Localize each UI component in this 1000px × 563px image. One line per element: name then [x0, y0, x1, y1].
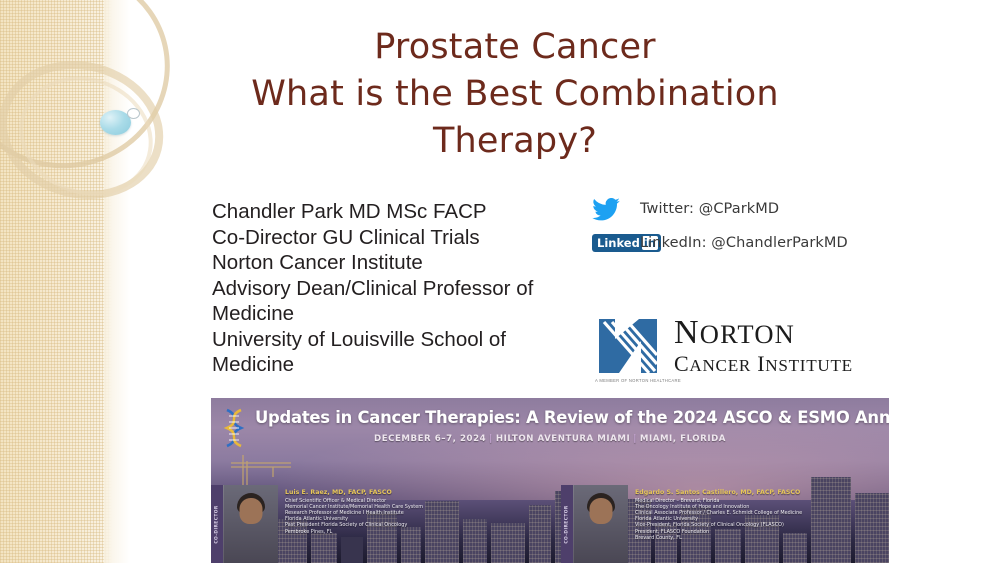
- banner-venue: HILTON AVENTURA MIAMI: [496, 434, 630, 444]
- speaker-headshot: [223, 485, 278, 563]
- presenter-line: Chandler Park MD MSc FACP: [212, 199, 584, 225]
- presenter-line: Norton Cancer Institute: [212, 250, 584, 276]
- speaker-role-tag-label: CO-DIRECTOR: [215, 505, 220, 543]
- speaker-role-tag: CO-DIRECTOR: [211, 485, 223, 563]
- speaker-card: CO-DIRECTOR Edgardo S. Santos Castillero…: [561, 485, 889, 563]
- conference-banner: Updates in Cancer Therapies: A Review of…: [211, 398, 889, 563]
- speaker-card: CO-DIRECTOR Luis E. Raez, MD, FACP, FASC…: [211, 485, 541, 563]
- speaker-details: Luis E. Raez, MD, FACP, FASCO Chief Scie…: [278, 485, 427, 563]
- norton-wordmark-line1: NORTON: [674, 316, 853, 350]
- linkedin-handle-label: LinkedIn: @ChandlerParkMD: [640, 235, 848, 251]
- presenter-line: Medicine: [212, 301, 584, 327]
- presenter-line: Medicine: [212, 352, 584, 378]
- speaker-role-tag: CO-DIRECTOR: [561, 485, 573, 563]
- banner-title: Updates in Cancer Therapies: A Review of…: [255, 408, 883, 427]
- norton-wordmark-line2: CANCER INSTITUTE: [674, 353, 853, 375]
- twitter-row[interactable]: Twitter: @CParkMD: [592, 196, 892, 222]
- linkedin-badge-icon: Linked in: [592, 234, 640, 252]
- speaker-affiliation-line: Past President Florida Society of Clinic…: [285, 522, 423, 528]
- title-line-1: Prostate Cancer: [205, 24, 825, 71]
- speaker-name: Edgardo S. Santos Castillero, MD, FACP, …: [635, 489, 802, 496]
- speaker-headshot: [573, 485, 628, 563]
- norton-cancer-institute-logo: A MEMBER OF NORTON HEALTHCARE NORTON CAN…: [595, 316, 853, 375]
- speaker-role-tag-label: CO-DIRECTOR: [565, 505, 570, 543]
- speaker-affiliation-line: Brevard County, FL: [635, 535, 802, 541]
- social-links: Twitter: @CParkMD Linked in LinkedIn: @C…: [592, 196, 892, 264]
- title-line-2: What is the Best Combination: [205, 71, 825, 118]
- linkedin-row[interactable]: Linked in LinkedIn: @ChandlerParkMD: [592, 230, 892, 256]
- slide-canvas: Prostate Cancer What is the Best Combina…: [0, 0, 1000, 563]
- presenter-line: Co-Director GU Clinical Trials: [212, 225, 584, 251]
- twitter-bird-icon: [592, 198, 640, 221]
- presenter-block: Chandler Park MD MSc FACP Co-Director GU…: [212, 199, 584, 378]
- title-line-3: Therapy?: [205, 118, 825, 165]
- norton-n-mark-icon: A MEMBER OF NORTON HEALTHCARE: [595, 317, 661, 375]
- speaker-name: Luis E. Raez, MD, FACP, FASCO: [285, 489, 423, 496]
- banner-subtitle: DECEMBER 6–7, 2024|HILTON AVENTURA MIAMI…: [211, 434, 889, 444]
- norton-wordmark: NORTON CANCER INSTITUTE: [674, 316, 853, 375]
- decorative-bead-outline-icon: [127, 108, 140, 119]
- speaker-affiliation-line: Vice-President, Florida Society of Clini…: [635, 522, 802, 528]
- twitter-handle-label: Twitter: @CParkMD: [640, 201, 779, 217]
- banner-date: DECEMBER 6–7, 2024: [374, 434, 486, 444]
- speaker-details: Edgardo S. Santos Castillero, MD, FACP, …: [628, 485, 806, 563]
- page-title: Prostate Cancer What is the Best Combina…: [205, 24, 825, 165]
- presenter-line: University of Louisville School of: [212, 327, 584, 353]
- norton-trademark-text: A MEMBER OF NORTON HEALTHCARE: [595, 378, 681, 383]
- presenter-line: Advisory Dean/Clinical Professor of: [212, 276, 584, 302]
- linkedin-badge-word: Linked: [597, 236, 640, 250]
- banner-city: MIAMI, FLORIDA: [640, 434, 726, 444]
- speaker-affiliation-line: Memorial Cancer Institute/Memorial Healt…: [285, 504, 423, 510]
- speaker-affiliation-line: Pembroke Pines, FL: [285, 529, 423, 535]
